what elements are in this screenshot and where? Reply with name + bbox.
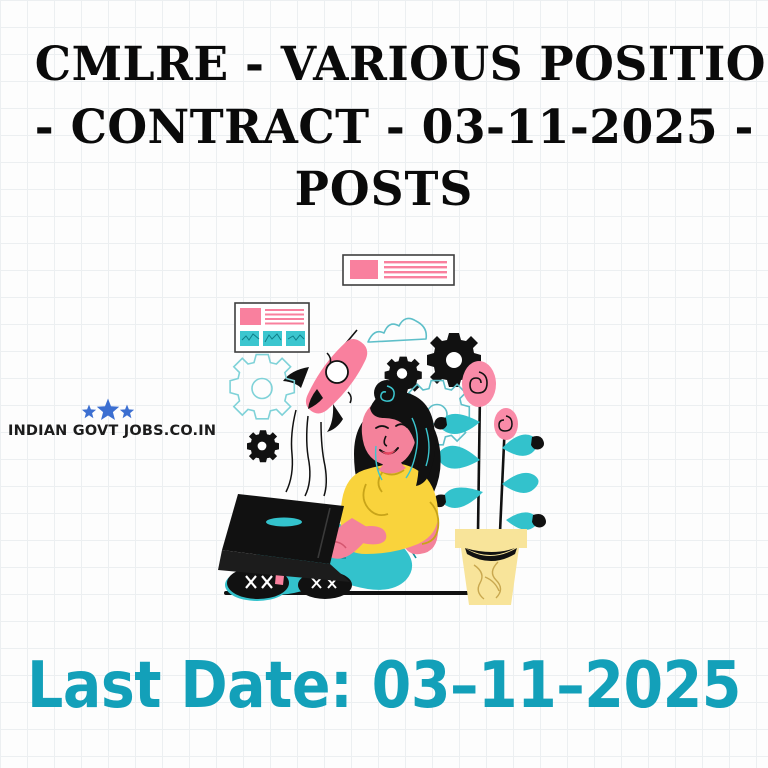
page-title: CMLRE - VARIOUS POSITIONS - CONTRACT - 0… xyxy=(24,34,744,222)
last-date-text: Last Date: 03–11–2025 xyxy=(0,653,768,720)
ui-card-left xyxy=(235,303,309,352)
title-line-2: - CONTRACT - 03-11-2025 - 16 xyxy=(35,97,733,160)
woman-figure xyxy=(218,380,441,601)
title-line-3: POSTS xyxy=(35,159,733,222)
ui-card-top xyxy=(343,255,454,285)
rocket-icon xyxy=(283,330,367,496)
stars-icon xyxy=(8,398,208,420)
flower-small xyxy=(494,408,518,440)
gear-black-tiny-icon xyxy=(247,430,279,462)
title-line-1: CMLRE - VARIOUS POSITIONS xyxy=(35,34,733,97)
poster-canvas: CMLRE - VARIOUS POSITIONS - CONTRACT - 0… xyxy=(0,0,768,768)
gear-outline-left-icon xyxy=(230,355,294,419)
cloud-icon xyxy=(368,318,426,342)
hero-illustration xyxy=(180,232,600,644)
site-watermark: INDIAN GOVT JOBS.CO.IN xyxy=(8,398,208,440)
laptop xyxy=(218,494,350,582)
flower-large xyxy=(462,361,496,407)
potted-plant xyxy=(434,361,547,605)
